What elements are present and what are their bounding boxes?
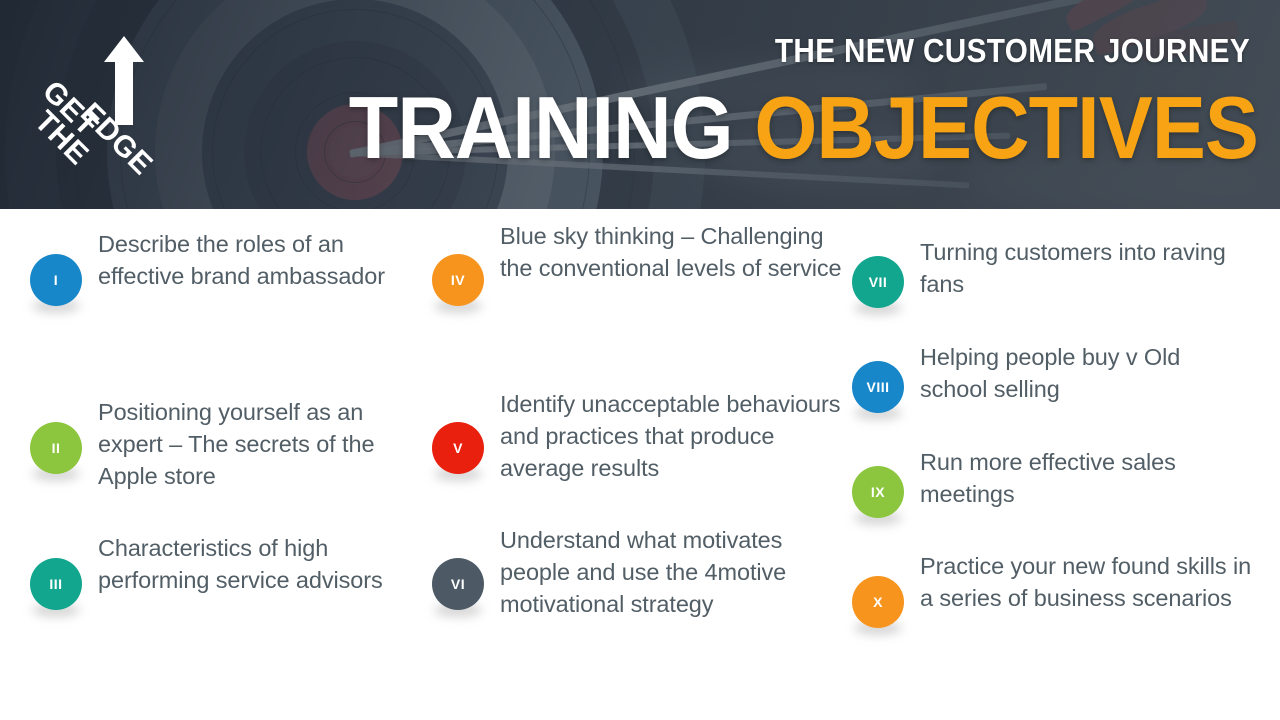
objective-numeral-badge[interactable]: VI	[432, 558, 484, 610]
objective-numeral-badge[interactable]: I	[30, 254, 82, 306]
objective-badge-wrapper: X	[852, 576, 904, 628]
objective-numeral-badge[interactable]: II	[30, 422, 82, 474]
objective-item[interactable]: IXRun more effective sales meetings	[852, 466, 1252, 518]
objective-badge-wrapper: III	[30, 558, 82, 610]
objective-badge-wrapper: VIII	[852, 361, 904, 413]
objective-text: Practice your new found skills in a seri…	[920, 550, 1252, 614]
objective-item[interactable]: VIUnderstand what motivates people and u…	[432, 558, 844, 620]
page-title-part1: TRAINING	[349, 78, 733, 177]
slide: GET THE EDGE THE NEW CUSTOMER JOURNEY TR…	[0, 0, 1280, 720]
objective-numeral-badge[interactable]: IV	[432, 254, 484, 306]
objective-badge-wrapper: V	[432, 422, 484, 474]
objective-item[interactable]: IIICharacteristics of high performing se…	[30, 558, 430, 610]
objective-badge-wrapper: I	[30, 254, 82, 306]
objective-item[interactable]: VIIIHelping people buy v Old school sell…	[852, 361, 1252, 413]
objective-text: Understand what motivates people and use…	[500, 524, 844, 620]
objective-text: Identify unacceptable behaviours and pra…	[500, 388, 844, 484]
objective-numeral-badge[interactable]: X	[852, 576, 904, 628]
objective-badge-wrapper: IV	[432, 254, 484, 306]
objective-item[interactable]: IDescribe the roles of an effective bran…	[30, 254, 430, 306]
objective-text: Blue sky thinking – Challenging the conv…	[500, 220, 844, 284]
objective-badge-wrapper: II	[30, 422, 82, 474]
objective-numeral-badge[interactable]: VIII	[852, 361, 904, 413]
objective-text: Helping people buy v Old school selling	[920, 341, 1252, 405]
objective-text: Run more effective sales meetings	[920, 446, 1252, 510]
objectives-list: IDescribe the roles of an effective bran…	[0, 209, 1280, 720]
objective-numeral-badge[interactable]: IX	[852, 466, 904, 518]
objective-badge-wrapper: VI	[432, 558, 484, 610]
objective-text: Turning customers into raving fans	[920, 236, 1252, 300]
objective-badge-wrapper: IX	[852, 466, 904, 518]
page-title: TRAINING OBJECTIVES	[101, 84, 1258, 172]
objective-text: Describe the roles of an effective brand…	[98, 228, 430, 292]
objective-text: Characteristics of high performing servi…	[98, 532, 430, 596]
objective-numeral-badge[interactable]: VII	[852, 256, 904, 308]
objective-numeral-badge[interactable]: V	[432, 422, 484, 474]
objective-item[interactable]: IVBlue sky thinking – Challenging the co…	[432, 254, 844, 306]
objective-text: Positioning yourself as an expert – The …	[98, 396, 430, 492]
page-title-part2: OBJECTIVES	[754, 78, 1258, 177]
objective-item[interactable]: VIdentify unacceptable behaviours and pr…	[432, 422, 844, 484]
objective-item[interactable]: IIPositioning yourself as an expert – Th…	[30, 422, 430, 492]
objective-item[interactable]: XPractice your new found skills in a ser…	[852, 576, 1252, 628]
objective-item[interactable]: VIITurning customers into raving fans	[852, 256, 1252, 308]
objective-badge-wrapper: VII	[852, 256, 904, 308]
header-subtitle: THE NEW CUSTOMER JOURNEY	[125, 32, 1250, 70]
objective-numeral-badge[interactable]: III	[30, 558, 82, 610]
header-banner: GET THE EDGE THE NEW CUSTOMER JOURNEY TR…	[0, 0, 1280, 209]
